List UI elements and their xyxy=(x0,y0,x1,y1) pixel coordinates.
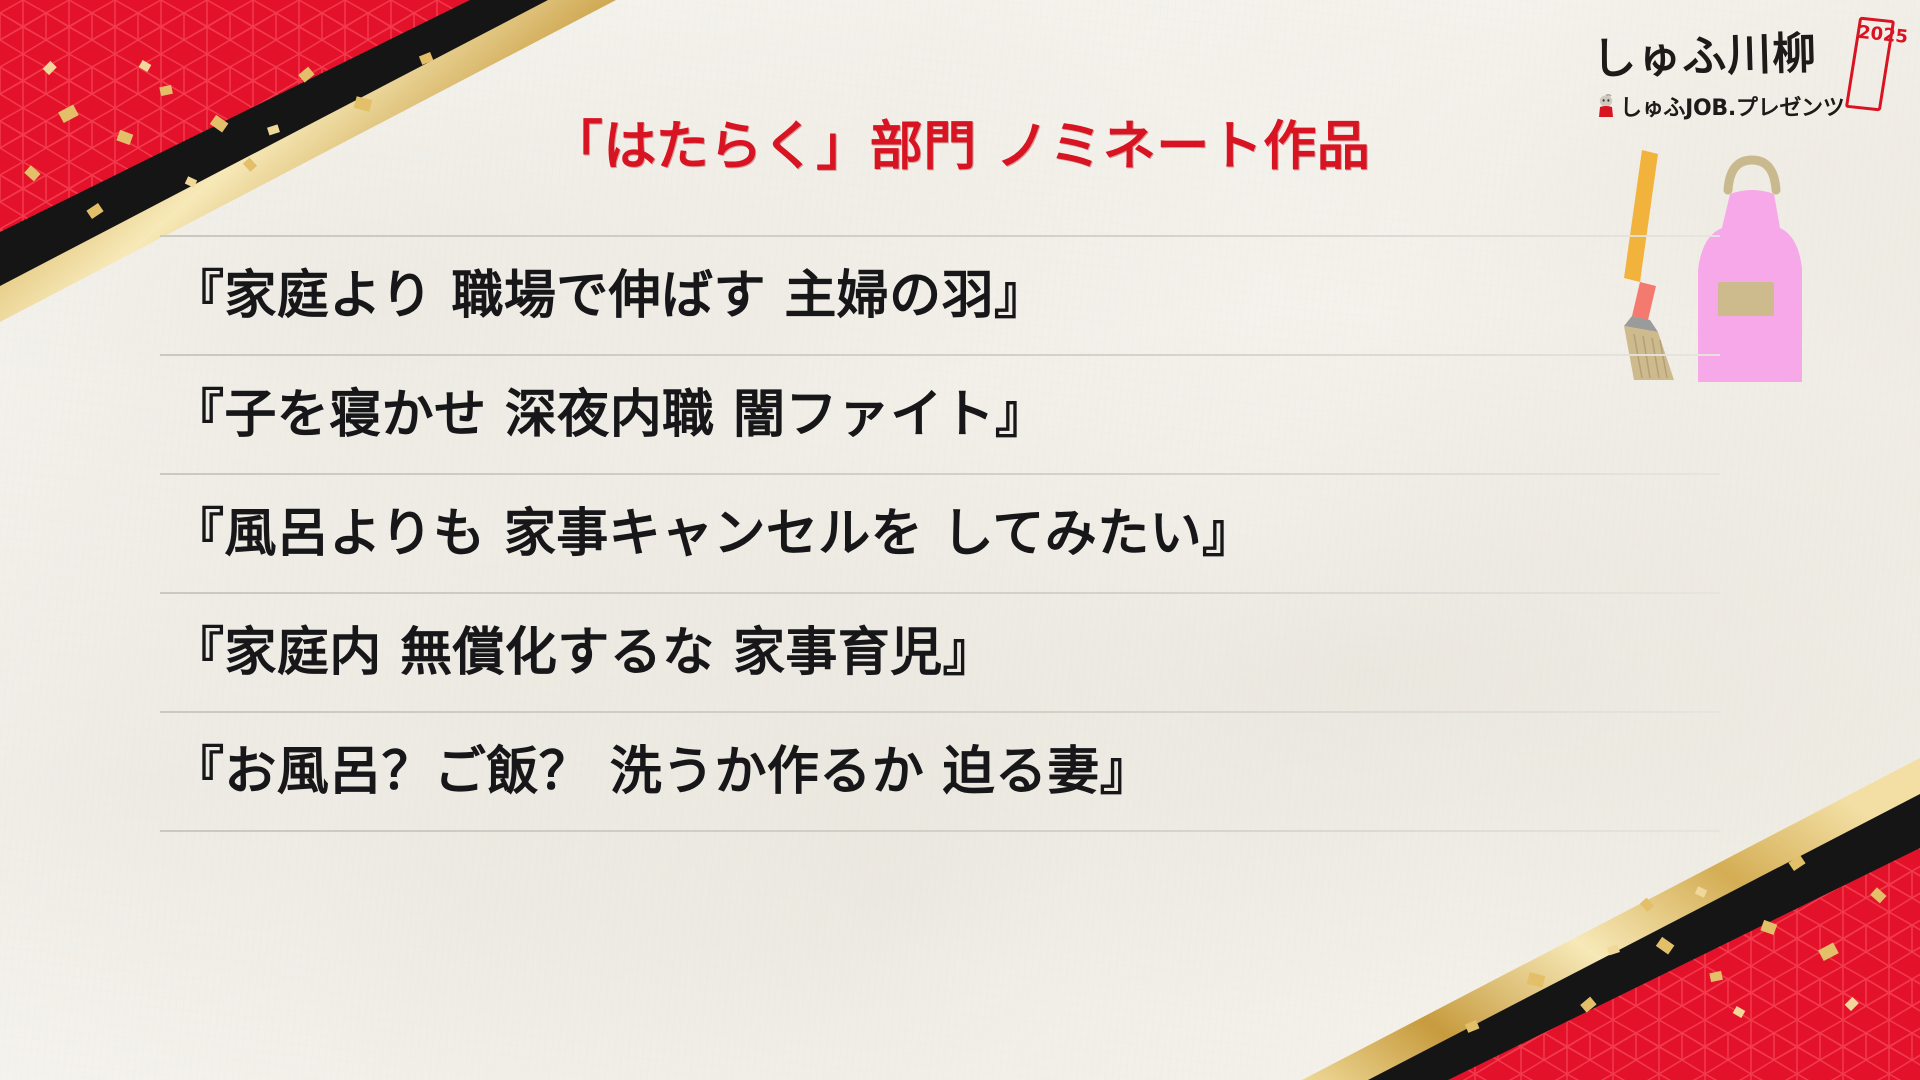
list-divider xyxy=(160,830,1720,832)
brand-logo: しゅふ川柳 2025 しゅふJOB.プレゼンツ xyxy=(1592,16,1892,126)
list-divider xyxy=(160,235,1720,237)
nominee-text: 『家庭より 職場で伸ばす 主婦の羽』 xyxy=(172,270,1046,322)
list-item: 『子を寝かせ 深夜内職 闇ファイト』 xyxy=(160,356,1720,473)
list-divider xyxy=(160,592,1720,594)
nominee-text: 『子を寝かせ 深夜内職 闇ファイト』 xyxy=(172,389,1047,441)
nominee-text: 『風呂よりも 家事キャンセルを してみたい』 xyxy=(172,508,1254,560)
shufu-character-mark-icon xyxy=(1596,94,1616,118)
logo-tagline: しゅふJOB.プレゼンツ xyxy=(1596,90,1844,122)
slide-root: しゅふ川柳 2025 しゅふJOB.プレゼンツ xyxy=(0,0,1920,1080)
nominee-text: 『家庭内 無償化するな 家事育児』 xyxy=(172,627,995,679)
list-item: 『風呂よりも 家事キャンセルを してみたい』 xyxy=(160,475,1720,592)
logo-year-text: 2025 xyxy=(1857,24,1883,45)
list-item: 『家庭内 無償化するな 家事育児』 xyxy=(160,594,1720,711)
nominee-text: 『お風呂？ご飯？ 洗うか作るか 迫る妻』 xyxy=(172,746,1152,798)
list-item: 『お風呂？ご飯？ 洗うか作るか 迫る妻』 xyxy=(160,713,1720,830)
logo-brand-text: しゅふ川柳 xyxy=(1591,17,1818,87)
list-item: 『家庭より 職場で伸ばす 主婦の羽』 xyxy=(160,237,1720,354)
page-title: 「はたらく」部門 ノミネート作品 xyxy=(550,104,1370,180)
list-divider xyxy=(160,711,1720,713)
nominee-list: 『家庭より 職場で伸ばす 主婦の羽』 『子を寝かせ 深夜内職 闇ファイト』 『風… xyxy=(160,235,1720,832)
list-divider xyxy=(160,473,1720,475)
list-divider xyxy=(160,354,1720,356)
logo-tagline-text: しゅふJOB.プレゼンツ xyxy=(1620,90,1844,122)
